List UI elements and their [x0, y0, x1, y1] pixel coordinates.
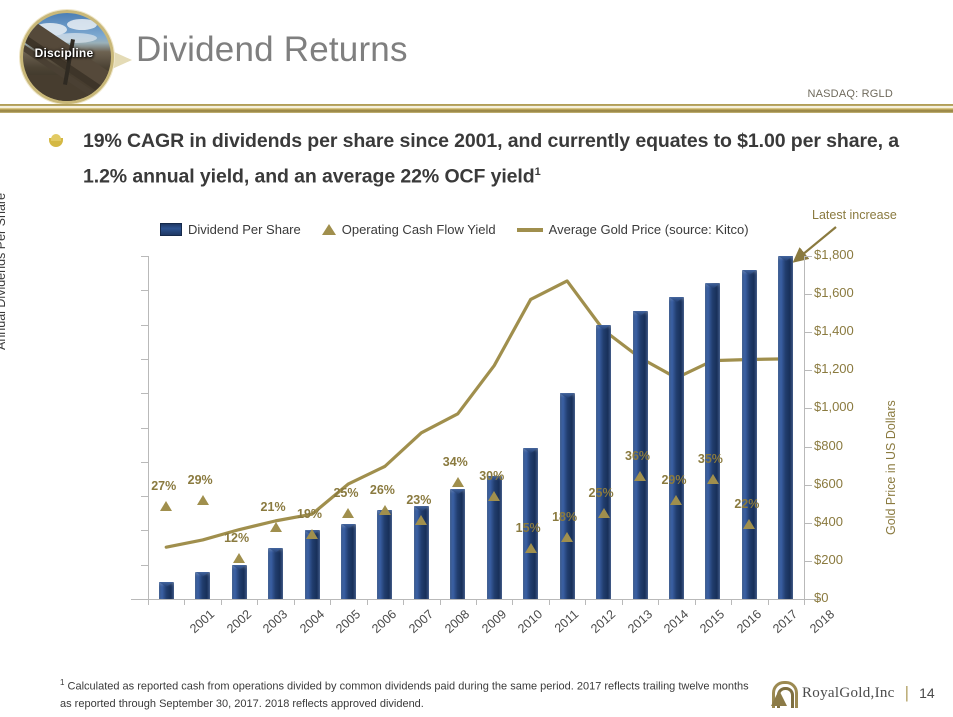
- ocf-label-2012: 18%: [552, 510, 577, 524]
- y-axis-right-tick: [805, 370, 812, 371]
- ocf-marker-2002[interactable]: [197, 495, 209, 505]
- bar-2015[interactable]: [669, 297, 684, 599]
- bar-2017[interactable]: [742, 270, 757, 599]
- ocf-marker-2006[interactable]: [342, 508, 354, 518]
- ocf-marker-2017[interactable]: [743, 519, 755, 529]
- bar-2013[interactable]: [596, 325, 611, 599]
- y-axis-right-tick: [805, 523, 812, 524]
- y-axis-right-tick-label: $600: [814, 476, 843, 491]
- x-axis-tick-label: 2003: [260, 607, 290, 636]
- footnote-marker: 1: [60, 678, 64, 687]
- ocf-marker-2009[interactable]: [452, 477, 464, 487]
- y-axis-right-tick-label: $1,000: [814, 399, 854, 414]
- x-axis-tick: [549, 599, 550, 605]
- x-axis-tick: [403, 599, 404, 605]
- y-axis-right-tick: [805, 332, 812, 333]
- gold-bullet-icon: [48, 134, 64, 148]
- x-axis-tick: [221, 599, 222, 605]
- y-axis-right-tick-label: $1,800: [814, 247, 854, 262]
- latest-increase-annotation: Latest increase: [812, 208, 897, 222]
- discipline-badge: Discipline: [12, 8, 116, 100]
- y-axis-right-tick-label: $400: [814, 514, 843, 529]
- ocf-marker-2003[interactable]: [233, 553, 245, 563]
- x-axis-tick-label: 2006: [370, 607, 400, 636]
- x-axis-tick-label: 2011: [552, 607, 581, 635]
- dividend-returns-chart: Dividend Per Share Operating Cash Flow Y…: [0, 200, 953, 660]
- y-axis-right-tick: [805, 485, 812, 486]
- subtitle-block: 19% CAGR in dividends per share since 20…: [48, 126, 908, 193]
- ocf-marker-2001[interactable]: [160, 501, 172, 511]
- ocf-label-2006: 25%: [333, 486, 358, 500]
- gold-price-line: [0, 200, 953, 660]
- subtitle-text: 19% CAGR in dividends per share since 20…: [83, 126, 908, 193]
- footer-separator: |: [905, 683, 909, 703]
- ocf-marker-2016[interactable]: [707, 474, 719, 484]
- ocf-marker-2013[interactable]: [598, 508, 610, 518]
- bar-2004[interactable]: [268, 548, 283, 599]
- ocf-marker-2012[interactable]: [561, 532, 573, 542]
- x-axis-tick: [294, 599, 295, 605]
- bar-2012[interactable]: [560, 393, 575, 599]
- y-axis-right-tick: [805, 599, 812, 600]
- y-axis-left-tick: [141, 393, 148, 394]
- chart-legend: Dividend Per Share Operating Cash Flow Y…: [160, 222, 761, 237]
- x-axis-tick: [257, 599, 258, 605]
- x-axis-tick: [148, 599, 149, 605]
- y-axis-left-tick: [141, 290, 148, 291]
- ocf-marker-2008[interactable]: [415, 515, 427, 525]
- ocf-label-2013: 25%: [589, 486, 614, 500]
- ocf-label-2010: 30%: [479, 469, 504, 483]
- y-axis-left-tick: [141, 599, 148, 600]
- ocf-marker-2011[interactable]: [525, 543, 537, 553]
- x-axis-tick-label: 2005: [333, 607, 363, 636]
- subtitle-body: 19% CAGR in dividends per share since 20…: [83, 130, 899, 188]
- x-axis-tick-label: 2012: [588, 607, 618, 636]
- page-number: 14: [919, 685, 935, 701]
- x-axis-tick: [804, 599, 805, 605]
- legend-label-2: Average Gold Price (source: Kitco): [549, 222, 749, 237]
- legend-item-dividend-per-share: Dividend Per Share: [160, 222, 301, 237]
- x-axis-tick-label: 2013: [625, 607, 655, 636]
- ocf-label-2004: 21%: [261, 500, 286, 514]
- gold-price-polyline: [166, 281, 786, 547]
- y-axis-right-tick-label: $1,400: [814, 323, 854, 338]
- x-axis-tick: [768, 599, 769, 605]
- x-axis-tick-label: 2010: [515, 607, 545, 636]
- y-axis-right-tick: [805, 447, 812, 448]
- bar-2005[interactable]: [305, 530, 320, 599]
- y-axis-right-tick-label: $1,200: [814, 361, 854, 376]
- ocf-label-2009: 34%: [443, 455, 468, 469]
- ocf-marker-2005[interactable]: [306, 529, 318, 539]
- y-axis-left-line: [148, 256, 149, 599]
- ocf-label-2017: 22%: [734, 497, 759, 511]
- bar-2018[interactable]: [778, 256, 793, 599]
- company-name: RoyalGold,Inc: [802, 685, 895, 702]
- ocf-label-2008: 23%: [406, 493, 431, 507]
- x-axis-tick-label: 2002: [224, 607, 254, 636]
- footnote: 1 Calculated as reported cash from opera…: [60, 674, 760, 713]
- ocf-label-2001: 27%: [151, 479, 176, 493]
- x-axis-tick: [476, 599, 477, 605]
- footnote-text: Calculated as reported cash from operati…: [60, 681, 749, 710]
- bar-2003[interactable]: [232, 565, 247, 599]
- ticker-symbol: NASDAQ: RGLD: [807, 88, 893, 100]
- footer-logo: RoyalGold,Inc | 14: [770, 676, 945, 710]
- bar-2001[interactable]: [159, 582, 174, 599]
- ocf-label-2003: 12%: [224, 531, 249, 545]
- ocf-marker-2015[interactable]: [670, 495, 682, 505]
- x-axis-tick: [695, 599, 696, 605]
- ocf-label-2014: 36%: [625, 449, 650, 463]
- y-axis-left-title: Annual Dividends Per Share: [0, 193, 8, 350]
- y-axis-left-tick: [141, 325, 148, 326]
- ocf-marker-2014[interactable]: [634, 471, 646, 481]
- x-axis-tick-label: 2014: [661, 607, 691, 636]
- y-axis-left-tick: [141, 565, 148, 566]
- bar-2007[interactable]: [377, 510, 392, 599]
- y-axis-right-tick: [805, 256, 812, 257]
- legend-item-ocf-yield: Operating Cash Flow Yield: [322, 222, 496, 237]
- x-axis-tick-label: 2001: [187, 607, 217, 636]
- x-axis-tick-label: 2015: [698, 607, 728, 636]
- y-axis-left-tick: [141, 428, 148, 429]
- x-axis-tick: [731, 599, 732, 605]
- x-axis-tick-label: 2018: [807, 607, 837, 636]
- line-swatch-icon: [517, 228, 543, 232]
- x-axis-tick: [330, 599, 331, 605]
- y-axis-right-tick: [805, 408, 812, 409]
- page-title: Dividend Returns: [136, 30, 408, 70]
- legend-item-gold-price: Average Gold Price (source: Kitco): [517, 222, 749, 237]
- y-axis-left-tick: [141, 530, 148, 531]
- y-axis-right-tick-label: $1,600: [814, 285, 854, 300]
- x-axis-tick-label: 2007: [406, 607, 436, 636]
- ocf-marker-2004[interactable]: [270, 522, 282, 532]
- bar-2016[interactable]: [705, 283, 720, 599]
- y-axis-right-tick: [805, 294, 812, 295]
- x-axis-tick-label: 2017: [770, 607, 800, 636]
- y-axis-right-tick-label: $200: [814, 552, 843, 567]
- x-axis-tick: [658, 599, 659, 605]
- triangle-swatch-icon: [322, 224, 336, 235]
- y-axis-left-tick: [141, 462, 148, 463]
- bar-2002[interactable]: [195, 572, 210, 599]
- slide-header: Discipline Dividend Returns NASDAQ: RGLD: [0, 0, 953, 100]
- y-axis-right-title: Gold Price in US Dollars: [884, 400, 898, 535]
- ocf-label-2007: 26%: [370, 483, 395, 497]
- ocf-label-2011: 15%: [516, 521, 541, 535]
- x-axis-tick: [585, 599, 586, 605]
- x-axis-tick-label: 2016: [734, 607, 764, 636]
- ocf-label-2015: 29%: [661, 473, 686, 487]
- legend-label-1: Operating Cash Flow Yield: [342, 222, 496, 237]
- ocf-label-2016: 35%: [698, 452, 723, 466]
- x-axis-tick: [512, 599, 513, 605]
- ocf-marker-2010[interactable]: [488, 491, 500, 501]
- x-axis-tick: [440, 599, 441, 605]
- x-axis-tick-label: 2008: [442, 607, 472, 636]
- y-axis-left-tick: [141, 256, 148, 257]
- y-axis-left-tick: [141, 359, 148, 360]
- ocf-marker-2007[interactable]: [379, 505, 391, 515]
- y-axis-right-tick-label: $800: [814, 438, 843, 453]
- x-axis-tick: [184, 599, 185, 605]
- ocf-label-2002: 29%: [188, 473, 213, 487]
- header-divider: [0, 104, 953, 113]
- y-axis-right-tick: [805, 561, 812, 562]
- legend-label-0: Dividend Per Share: [188, 222, 301, 237]
- subtitle-footnote-marker: 1: [535, 166, 541, 178]
- ocf-label-2005: 19%: [297, 507, 322, 521]
- bar-2006[interactable]: [341, 524, 356, 599]
- royal-gold-mark-icon: [770, 680, 796, 706]
- x-axis-tick-label: 2009: [479, 607, 509, 636]
- y-axis-right-tick-label: $0: [814, 590, 828, 605]
- x-axis-tick-label: 2004: [297, 607, 327, 636]
- y-axis-left-tick: [141, 496, 148, 497]
- badge-label: Discipline: [17, 46, 111, 60]
- x-axis-tick: [367, 599, 368, 605]
- y-axis-right-line: [804, 256, 805, 599]
- x-axis-tick: [622, 599, 623, 605]
- bar-swatch-icon: [160, 223, 182, 236]
- bar-2009[interactable]: [450, 489, 465, 599]
